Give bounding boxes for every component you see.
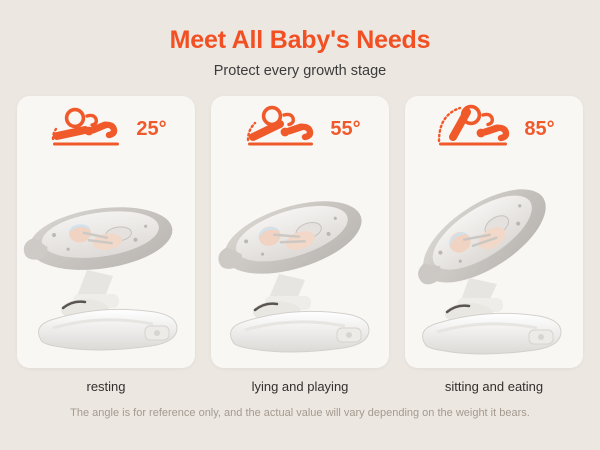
angle-value-sitting-and-eating: 85° bbox=[524, 119, 554, 139]
card-list: 25° bbox=[17, 96, 583, 395]
angle-value-resting: 25° bbox=[136, 119, 166, 139]
angle-row-resting: 25° bbox=[17, 96, 195, 158]
page-subtitle: Protect every growth stage bbox=[0, 64, 600, 80]
card-item-sitting-and-eating[interactable]: 85° bbox=[405, 96, 583, 395]
card-caption-resting: resting bbox=[86, 379, 125, 395]
baby-recline-25-icon bbox=[45, 103, 127, 154]
baby-bouncer-tilted-photo bbox=[211, 158, 389, 366]
card-body-resting[interactable]: 25° bbox=[17, 96, 195, 368]
angle-row-sitting-and-eating: 85° bbox=[405, 96, 583, 158]
card-item-resting[interactable]: 25° bbox=[17, 96, 195, 395]
card-body-sitting-and-eating[interactable]: 85° bbox=[405, 96, 583, 368]
card-body-lying-and-playing[interactable]: 55° bbox=[211, 96, 389, 368]
card-item-lying-and-playing[interactable]: 55° bbox=[211, 96, 389, 395]
disclaimer-text: The angle is for reference only, and the… bbox=[0, 407, 600, 420]
promo-page: Meet All Baby's Needs Protect every grow… bbox=[0, 0, 600, 450]
card-caption-sitting-and-eating: sitting and eating bbox=[445, 379, 543, 395]
angle-value-lying-and-playing: 55° bbox=[330, 119, 360, 139]
angle-row-lying-and-playing: 55° bbox=[211, 96, 389, 158]
baby-recline-55-icon bbox=[239, 103, 321, 154]
baby-bouncer-flat-photo bbox=[17, 158, 195, 366]
header: Meet All Baby's Needs Protect every grow… bbox=[0, 0, 600, 79]
baby-bouncer-upright-photo bbox=[405, 158, 583, 366]
page-title: Meet All Baby's Needs bbox=[0, 27, 600, 55]
baby-recline-85-icon bbox=[433, 103, 515, 154]
card-caption-lying-and-playing: lying and playing bbox=[252, 379, 349, 395]
